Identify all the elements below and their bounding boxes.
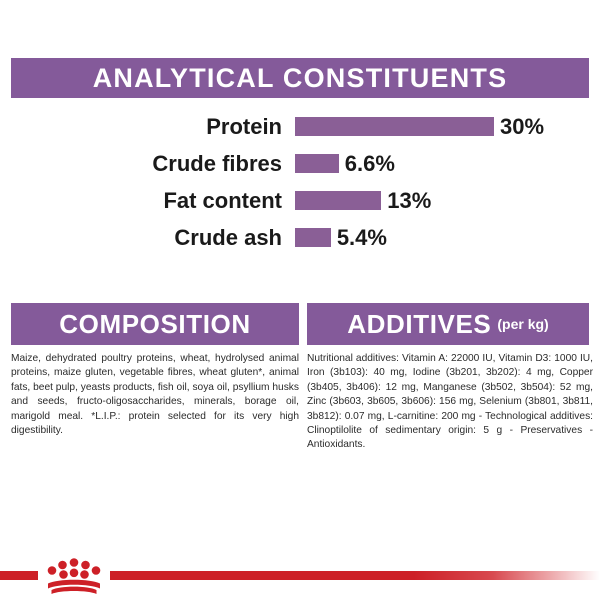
chart-row-label: Protein	[11, 116, 295, 138]
nutrition-panel: ANALYTICAL CONSTITUENTS Protein 30% Crud…	[0, 0, 600, 600]
composition-header: COMPOSITION	[11, 303, 299, 345]
additives-body-text: Nutritional additives: Vitamin A: 22000 …	[307, 352, 593, 453]
chart-bar-group: 6.6%	[295, 153, 589, 175]
additives-title: ADDITIVES	[347, 311, 491, 337]
chart-bar	[295, 154, 339, 173]
additives-subtitle: (per kg)	[497, 316, 548, 332]
chart-bar	[295, 117, 494, 136]
analytical-constituents-title: ANALYTICAL CONSTITUENTS	[93, 65, 508, 92]
crown-icon	[42, 555, 106, 597]
composition-body-text: Maize, dehydrated poultry proteins, whea…	[11, 352, 299, 438]
chart-bar	[295, 228, 331, 247]
chart-row: Crude ash 5.4%	[11, 219, 589, 256]
chart-value-label: 5.4%	[331, 227, 387, 249]
footer-rule-right	[110, 571, 600, 580]
chart-bar-group: 13%	[295, 190, 589, 212]
chart-value-label: 30%	[494, 116, 544, 138]
chart-row-label: Crude fibres	[11, 153, 295, 175]
footer-rule-left	[0, 571, 38, 580]
chart-row-label: Crude ash	[11, 227, 295, 249]
chart-row: Protein 30%	[11, 108, 589, 145]
chart-row: Fat content 13%	[11, 182, 589, 219]
chart-row: Crude fibres 6.6%	[11, 145, 589, 182]
chart-value-label: 6.6%	[339, 153, 395, 175]
brand-footer	[0, 555, 600, 600]
chart-bar-group: 30%	[295, 116, 589, 138]
chart-bar-group: 5.4%	[295, 227, 589, 249]
composition-title: COMPOSITION	[59, 311, 251, 337]
chart-value-label: 13%	[381, 190, 431, 212]
chart-bar	[295, 191, 381, 210]
additives-header: ADDITIVES (per kg)	[307, 303, 589, 345]
chart-row-label: Fat content	[11, 190, 295, 212]
analytical-constituents-chart: Protein 30% Crude fibres 6.6% Fat conten…	[11, 108, 589, 258]
analytical-constituents-header: ANALYTICAL CONSTITUENTS	[11, 58, 589, 98]
